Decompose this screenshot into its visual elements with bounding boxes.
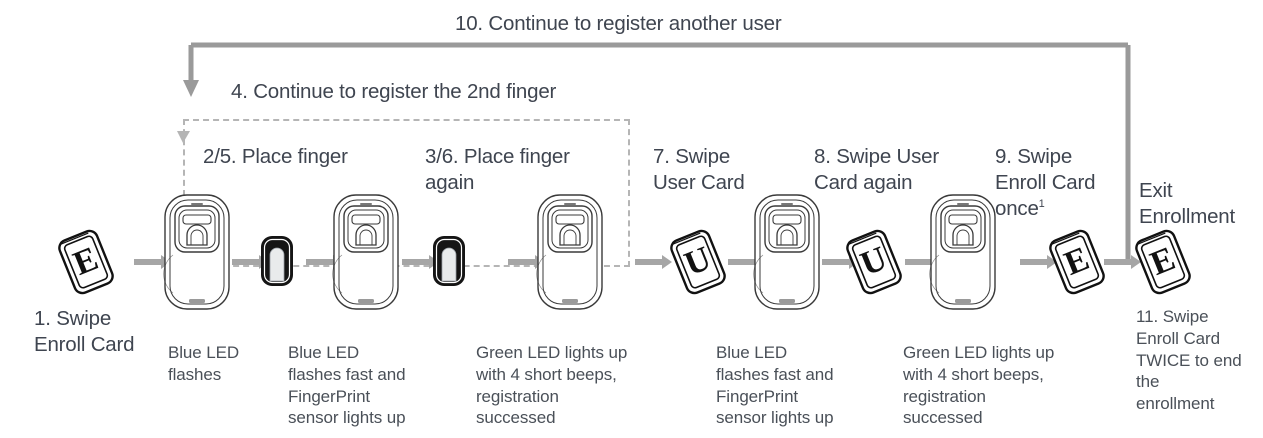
caption-green-led-1: Green LED lights up with 4 short beeps, … <box>476 342 627 429</box>
header-step-3-6: 3/6. Place finger again <box>425 144 570 196</box>
footnote-marker: 1 <box>1039 199 1045 211</box>
card-user-1-icon: U <box>661 221 735 303</box>
device-2-icon <box>332 193 400 311</box>
header-step-9-text: 9. Swipe Enroll Card once <box>995 145 1095 220</box>
card-user-2-icon: U <box>837 221 911 303</box>
device-4-icon <box>753 193 821 311</box>
dashed-box-arrowhead <box>175 125 199 149</box>
caption-blue-led-flashes: Blue LED flashes <box>168 342 239 386</box>
caption-blue-led-fast-2: Blue LED flashes fast and FingerPrint se… <box>716 342 833 429</box>
card-enroll-3-icon: E <box>1126 221 1200 303</box>
device-5-icon <box>929 193 997 311</box>
device-1-icon <box>163 193 231 311</box>
header-step-7: 7. Swipe User Card <box>653 144 745 196</box>
card-enroll-2-icon: E <box>1040 221 1114 303</box>
finger-1-icon <box>260 235 294 287</box>
card-enroll-1-icon: E <box>49 221 123 303</box>
caption-blue-led-fast-1: Blue LED flashes fast and FingerPrint se… <box>288 342 405 429</box>
device-3-icon <box>536 193 604 311</box>
header-step-8: 8. Swipe User Card again <box>814 144 939 196</box>
caption-step-11: 11. Swipe Enroll Card TWICE to end the e… <box>1136 306 1242 415</box>
title-continue-another-user: 10. Continue to register another user <box>455 11 782 37</box>
caption-step-1: 1. Swipe Enroll Card <box>34 306 134 358</box>
header-step-9: 9. Swipe Enroll Card once1 <box>995 144 1095 223</box>
enrollment-flow-diagram: 10. Continue to register another user 4.… <box>0 0 1263 438</box>
loop-arrowhead-left <box>183 80 199 97</box>
title-continue-second-finger: 4. Continue to register the 2nd finger <box>231 79 556 105</box>
header-step-2-5: 2/5. Place finger <box>203 144 348 170</box>
caption-green-led-2: Green LED lights up with 4 short beeps, … <box>903 342 1054 429</box>
finger-2-icon <box>432 235 466 287</box>
